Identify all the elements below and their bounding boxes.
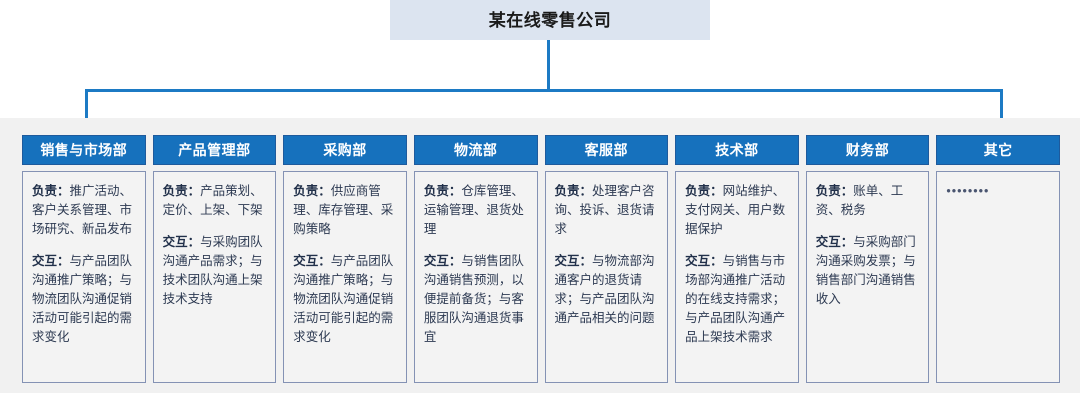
department-column-sales-marketing[interactable]: 销售与市场部 负责：推广活动、客户关系管理、市场研究、新品发布 交互：与产品团队… [22,135,146,383]
root-node-label: 某在线零售公司 [489,12,612,29]
interaction-label: 交互： [816,235,854,249]
root-node[interactable]: 某在线零售公司 [390,0,710,40]
department-name-label: 技术部 [715,143,759,157]
department-name-label: 销售与市场部 [40,143,127,157]
interaction-label: 交互： [293,254,331,268]
department-body-customer-service: 负责：处理客户咨询、投诉、退货请求 交互：与物流部沟通客户的退货请求；与产品团队… [545,171,669,383]
interaction-label: 交互： [32,254,70,268]
interaction-label: 交互： [555,254,593,268]
department-name-label: 物流部 [454,143,498,157]
responsibility-label: 负责： [555,184,593,198]
responsibility-paragraph: 负责：仓库管理、运输管理、退货处理 [424,182,529,239]
department-header-sales-marketing[interactable]: 销售与市场部 [22,135,146,165]
department-header-product-management[interactable]: 产品管理部 [153,135,277,165]
responsibility-paragraph: 负责：网站维护、支付网关、用户数据保护 [685,182,790,239]
responsibility-paragraph: 负责：产品策划、定价、上架、下架 [163,182,268,220]
responsibility-paragraph: 负责：供应商管理、库存管理、采购策略 [293,182,398,239]
department-column-logistics[interactable]: 物流部 负责：仓库管理、运输管理、退货处理 交互：与销售团队沟通销售预测，以便提… [414,135,538,383]
department-name-label: 其它 [984,143,1013,157]
responsibility-paragraph: 负责：处理客户咨询、投诉、退货请求 [555,182,660,239]
department-header-procurement[interactable]: 采购部 [283,135,407,165]
interaction-paragraph: 交互：与产品团队沟通推广策略；与物流团队沟通促销活动可能引起的需求变化 [32,252,137,347]
department-header-finance[interactable]: 财务部 [806,135,930,165]
responsibility-label: 负责： [685,184,723,198]
department-column-procurement[interactable]: 采购部 负责：供应商管理、库存管理、采购策略 交互：与产品团队沟通推广策略；与物… [283,135,407,383]
interaction-label: 交互： [163,235,201,249]
interaction-label: 交互： [685,254,723,268]
responsibility-paragraph: 负责：账单、工资、税务 [816,182,921,220]
department-body-technology: 负责：网站维护、支付网关、用户数据保护 交互：与销售与市场部沟通推广活动的在线支… [675,171,799,383]
interaction-paragraph: 交互：与产品团队沟通推广策略；与物流团队沟通促销活动可能引起的需求变化 [293,252,398,347]
department-body-procurement: 负责：供应商管理、库存管理、采购策略 交互：与产品团队沟通推广策略；与物流团队沟… [283,171,407,383]
department-body-sales-marketing: 负责：推广活动、客户关系管理、市场研究、新品发布 交互：与产品团队沟通推广策略；… [22,171,146,383]
org-chart: 某在线零售公司 销售与市场部 负责：推广活动、客户关系管理、市场研究、新品发布 … [0,0,1080,400]
department-name-label: 采购部 [323,143,367,157]
department-header-technology[interactable]: 技术部 [675,135,799,165]
interaction-paragraph: 交互：与物流部沟通客户的退货请求；与产品团队沟通产品相关的问题 [555,252,660,328]
department-columns: 销售与市场部 负责：推广活动、客户关系管理、市场研究、新品发布 交互：与产品团队… [22,135,1060,383]
responsibility-label: 负责： [163,184,201,198]
responsibility-label: 负责： [293,184,331,198]
department-column-customer-service[interactable]: 客服部 负责：处理客户咨询、投诉、退货请求 交互：与物流部沟通客户的退货请求；与… [545,135,669,383]
responsibility-paragraph: 负责：推广活动、客户关系管理、市场研究、新品发布 [32,182,137,239]
department-header-customer-service[interactable]: 客服部 [545,135,669,165]
department-body-product-management: 负责：产品策划、定价、上架、下架 交互：与采购团队沟通产品需求；与技术团队沟通上… [153,171,277,383]
department-header-other[interactable]: 其它 [936,135,1060,165]
interaction-paragraph: 交互：与采购部门沟通采购发票；与销售部门沟通销售收入 [816,233,921,309]
connector-stem-vertical [547,40,550,91]
department-body-other: •••••••• [936,171,1060,383]
responsibility-label: 负责： [816,184,854,198]
department-column-other[interactable]: 其它 •••••••• [936,135,1060,383]
placeholder-dots: •••••••• [946,182,1051,201]
department-name-label: 财务部 [846,143,890,157]
connector-horizontal-bus [85,89,1003,92]
interaction-paragraph: 交互：与销售团队沟通销售预测，以便提前备货；与客服团队沟通退货事宜 [424,252,529,347]
department-body-finance: 负责：账单、工资、税务 交互：与采购部门沟通采购发票；与销售部门沟通销售收入 [806,171,930,383]
department-name-label: 产品管理部 [178,143,251,157]
department-body-logistics: 负责：仓库管理、运输管理、退货处理 交互：与销售团队沟通销售预测，以便提前备货；… [414,171,538,383]
interaction-label: 交互： [424,254,462,268]
department-column-finance[interactable]: 财务部 负责：账单、工资、税务 交互：与采购部门沟通采购发票；与销售部门沟通销售… [806,135,930,383]
department-header-logistics[interactable]: 物流部 [414,135,538,165]
responsibility-label: 负责： [424,184,462,198]
department-name-label: 客服部 [585,143,629,157]
department-column-technology[interactable]: 技术部 负责：网站维护、支付网关、用户数据保护 交互：与销售与市场部沟通推广活动… [675,135,799,383]
interaction-paragraph: 交互：与销售与市场部沟通推广活动的在线支持需求；与产品团队沟通产品上架技术需求 [685,252,790,347]
interaction-paragraph: 交互：与采购团队沟通产品需求；与技术团队沟通上架技术支持 [163,233,268,309]
department-column-product-management[interactable]: 产品管理部 负责：产品策划、定价、上架、下架 交互：与采购团队沟通产品需求；与技… [153,135,277,383]
responsibility-label: 负责： [32,184,70,198]
